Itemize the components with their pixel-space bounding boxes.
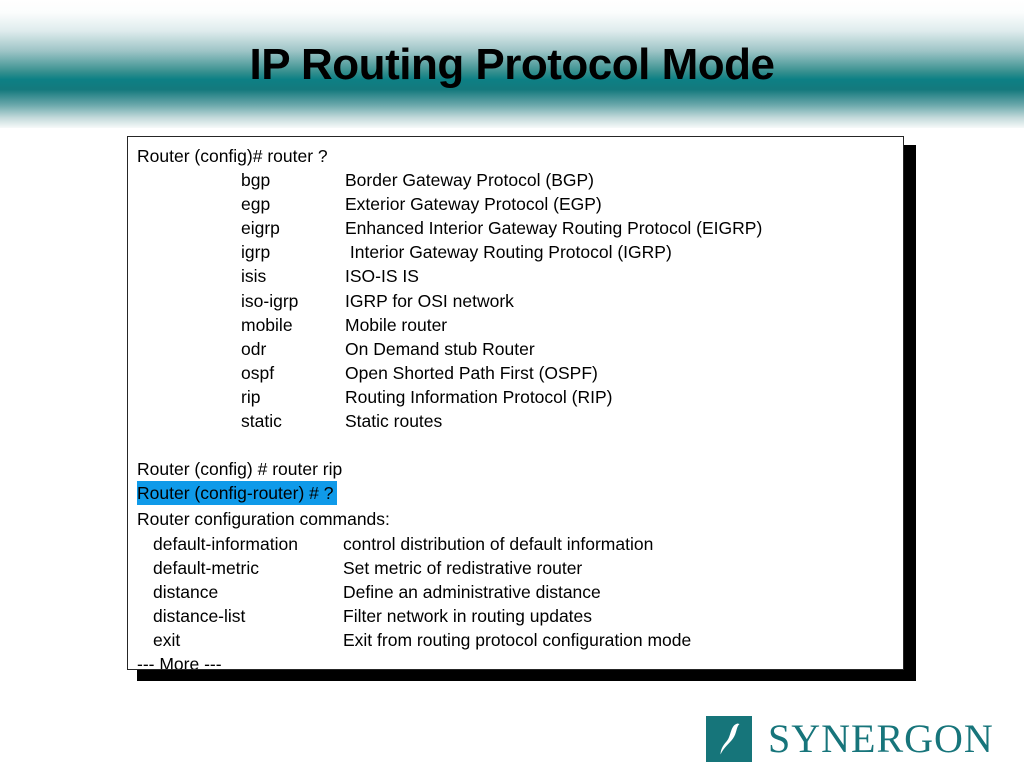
config-description: Define an administrative distance xyxy=(343,580,601,604)
config-description: control distribution of default informat… xyxy=(343,532,653,556)
protocol-description: Static routes xyxy=(345,409,442,433)
protocol-command: mobile xyxy=(241,313,345,337)
config-row: default-information control distribution… xyxy=(137,532,901,556)
protocol-command-list: bgp Border Gateway Protocol (BGP) egp Ex… xyxy=(137,168,901,433)
config-description: Filter network in routing updates xyxy=(343,604,592,628)
config-row: exit Exit from routing protocol configur… xyxy=(137,628,901,652)
config-commands-heading: Router configuration commands: xyxy=(137,507,901,531)
protocol-description: Enhanced Interior Gateway Routing Protoc… xyxy=(345,216,762,240)
config-command-list: default-information control distribution… xyxy=(137,532,901,652)
protocol-description: Mobile router xyxy=(345,313,447,337)
protocol-command: egp xyxy=(241,192,345,216)
protocol-row: mobile Mobile router xyxy=(137,313,901,337)
protocol-command: ospf xyxy=(241,361,345,385)
config-command: exit xyxy=(153,628,343,652)
protocol-command: bgp xyxy=(241,168,345,192)
protocol-description: Routing Information Protocol (RIP) xyxy=(345,385,612,409)
protocol-description: Border Gateway Protocol (BGP) xyxy=(345,168,594,192)
console-second-prompt-line: Router (config) # router rip xyxy=(137,457,901,481)
config-row: distance-list Filter network in routing … xyxy=(137,604,901,628)
protocol-command: rip xyxy=(241,385,345,409)
protocol-command: eigrp xyxy=(241,216,345,240)
protocol-row: iso-igrp IGRP for OSI network xyxy=(137,289,901,313)
config-row: distance Define an administrative distan… xyxy=(137,580,901,604)
highlighted-prompt-row: Router (config-router) # ? xyxy=(137,481,901,507)
protocol-row: static Static routes xyxy=(137,409,901,433)
title-banner: IP Routing Protocol Mode xyxy=(0,0,1024,128)
more-pager-line: --- More --- xyxy=(137,652,901,670)
protocol-row: igrp Interior Gateway Routing Protocol (… xyxy=(137,240,901,264)
protocol-description: IGRP for OSI network xyxy=(345,289,514,313)
config-command: distance-list xyxy=(153,604,343,628)
config-description: Set metric of redistrative router xyxy=(343,556,582,580)
console-prompt-line: Router (config)# router ? xyxy=(137,144,901,168)
config-description: Exit from routing protocol configuration… xyxy=(343,628,691,652)
protocol-command: isis xyxy=(241,264,345,288)
protocol-row: isis ISO-IS IS xyxy=(137,264,901,288)
blank-line xyxy=(137,433,901,457)
protocol-row: rip Routing Information Protocol (RIP) xyxy=(137,385,901,409)
page-title: IP Routing Protocol Mode xyxy=(0,40,1024,90)
protocol-command: iso-igrp xyxy=(241,289,345,313)
protocol-row: ospf Open Shorted Path First (OSPF) xyxy=(137,361,901,385)
console-highlighted-prompt-line: Router (config-router) # ? xyxy=(137,481,337,505)
synergon-wordmark: SYNERGON xyxy=(768,716,994,762)
config-row: default-metric Set metric of redistrativ… xyxy=(137,556,901,580)
protocol-description: Exterior Gateway Protocol (EGP) xyxy=(345,192,602,216)
synergon-logo: SYNERGON xyxy=(706,716,1018,766)
config-command: default-metric xyxy=(153,556,343,580)
config-command: distance xyxy=(153,580,343,604)
protocol-row: bgp Border Gateway Protocol (BGP) xyxy=(137,168,901,192)
protocol-description: Interior Gateway Routing Protocol (IGRP) xyxy=(345,240,672,264)
config-command: default-information xyxy=(153,532,343,556)
console-output-box: Router (config)# router ? bgp Border Gat… xyxy=(127,136,904,670)
console-output-text: Router (config)# router ? bgp Border Gat… xyxy=(137,144,901,670)
protocol-row: odr On Demand stub Router xyxy=(137,337,901,361)
protocol-description: Open Shorted Path First (OSPF) xyxy=(345,361,598,385)
protocol-command: igrp xyxy=(241,240,345,264)
protocol-description: ISO-IS IS xyxy=(345,264,419,288)
protocol-row: eigrp Enhanced Interior Gateway Routing … xyxy=(137,216,901,240)
protocol-command: odr xyxy=(241,337,345,361)
protocol-row: egp Exterior Gateway Protocol (EGP) xyxy=(137,192,901,216)
protocol-command: static xyxy=(241,409,345,433)
protocol-description: On Demand stub Router xyxy=(345,337,535,361)
synergon-mark-icon xyxy=(706,716,752,762)
